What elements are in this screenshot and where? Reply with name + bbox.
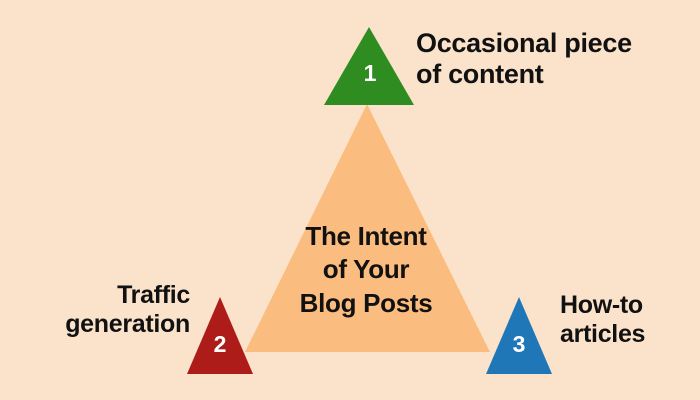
node-1-number: 1 <box>350 60 390 87</box>
node-2-number: 2 <box>200 331 240 358</box>
triangle-diagram: The Intent of Your Blog Posts Occasional… <box>0 0 700 400</box>
node-2-label: Traffic generation <box>8 281 190 339</box>
node-3-number: 3 <box>499 331 539 358</box>
node-1-label: Occasional piece of content <box>416 28 678 91</box>
center-label: The Intent of Your Blog Posts <box>255 220 477 320</box>
node-3-label: How-to articles <box>560 291 696 349</box>
